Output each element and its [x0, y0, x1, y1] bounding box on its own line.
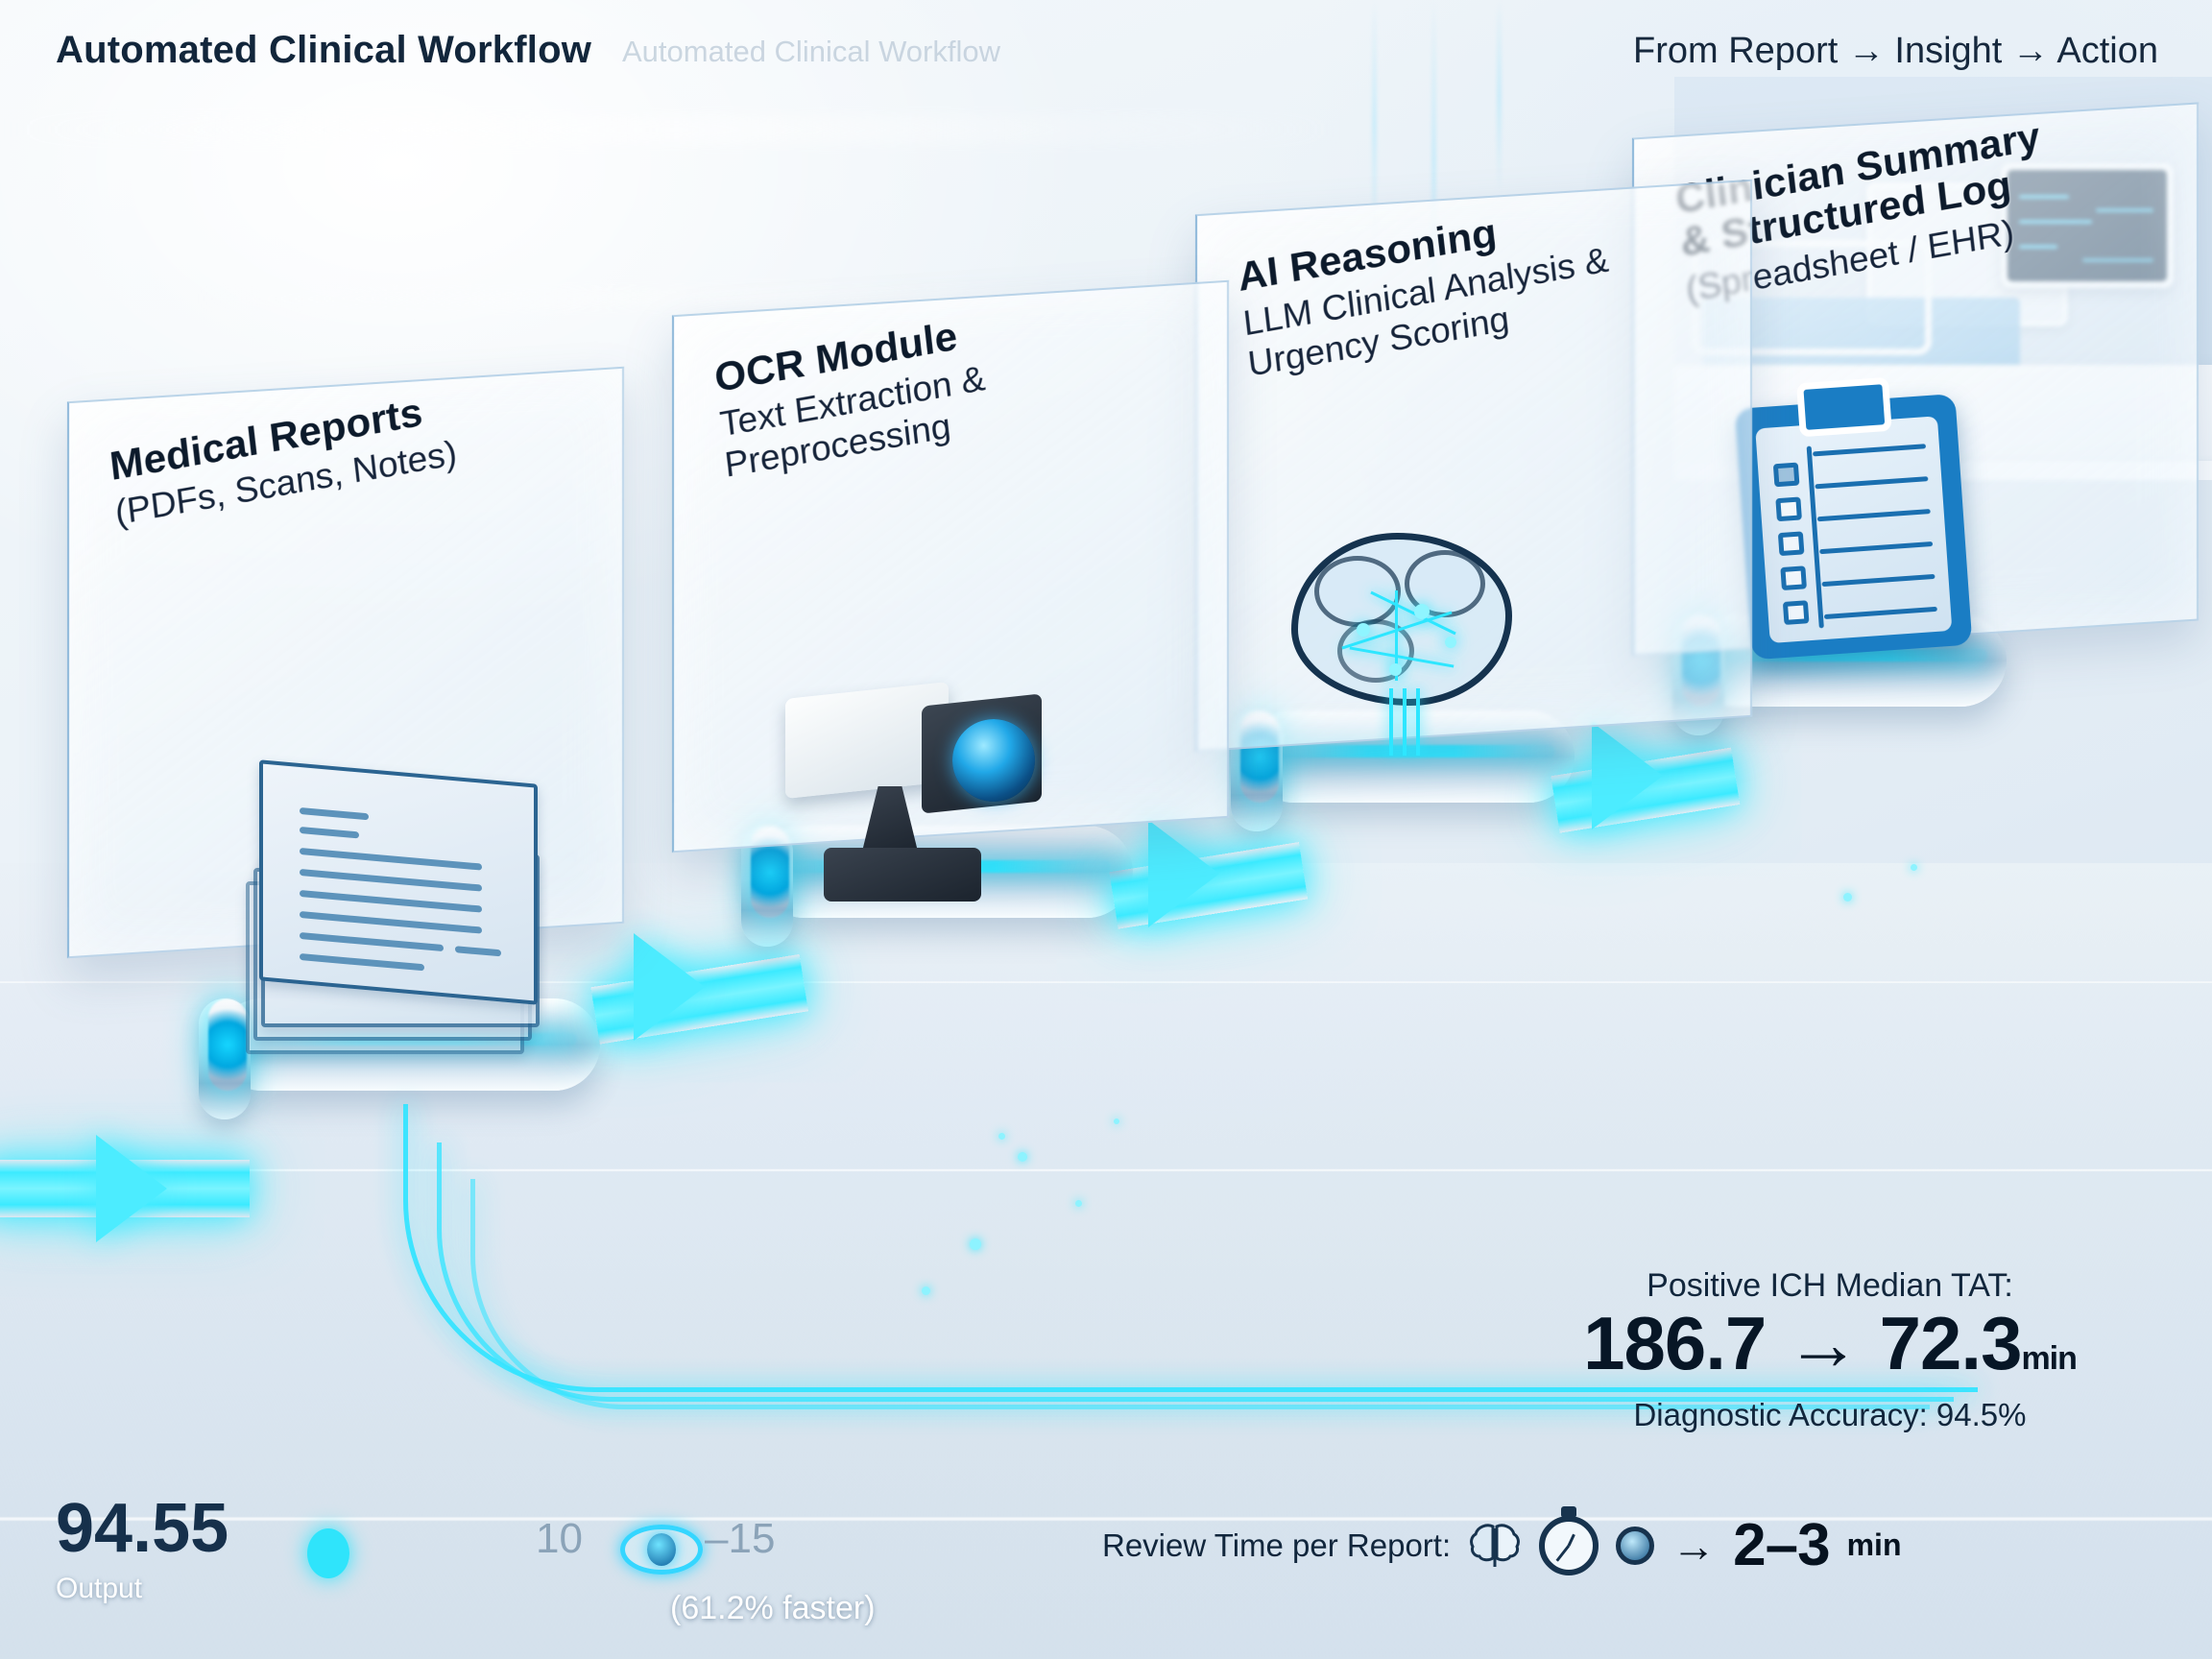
page-title: Automated Clinical Workflow	[56, 29, 591, 72]
output-overlay: 94.55 Output 10 –15 (61.2% faster)	[56, 1494, 228, 1605]
tat-after-value: 72.3	[1880, 1301, 2022, 1385]
faster-note: (61.2% faster)	[670, 1590, 876, 1627]
brain-network-icon	[1282, 523, 1541, 754]
scanner-camera-icon	[768, 677, 1085, 926]
tat-arrow-icon: →	[1786, 1301, 1860, 1385]
tat-label: Positive ICH Median TAT:	[1494, 1267, 2166, 1305]
tat-before-value: 186.7	[1583, 1301, 1766, 1385]
flow-arrow-3-4	[1592, 722, 1663, 829]
marker-left-value: 10	[536, 1515, 583, 1563]
review-time-unit: min	[1847, 1527, 1902, 1563]
eye-icon	[620, 1525, 703, 1575]
ghost-title-watermark: Automated Clinical Workflow	[622, 35, 1000, 69]
flow-arrow-inlet	[96, 1135, 167, 1242]
panel-text-block: AI Reasoning LLM Clinical Analysis & Urg…	[1236, 167, 1756, 385]
tat-unit: min	[2021, 1340, 2076, 1377]
output-value: 94.55	[56, 1494, 228, 1563]
clipboard-checklist-icon	[1733, 372, 1992, 666]
output-marker-dot	[307, 1528, 349, 1578]
scene-stage: Clinician Summary & Structured Log (Spre…	[0, 0, 2212, 1659]
brain-icon	[1468, 1523, 1522, 1569]
document-stack-icon	[240, 768, 576, 1104]
diagnostic-accuracy-label: Diagnostic Accuracy: 94.5%	[1494, 1397, 2166, 1433]
review-time-row: Review Time per Report: → 2–3 min	[1102, 1511, 1901, 1579]
tat-values: 186.7 → 72.3min	[1494, 1305, 2166, 1383]
flow-arrow-1-2	[634, 933, 705, 1041]
review-time-value: 2–3	[1733, 1511, 1829, 1579]
panel-text-block: Medical Reports (PDFs, Scans, Notes)	[108, 356, 623, 534]
stopwatch-icon	[1539, 1516, 1599, 1575]
marker-right-value: –15	[705, 1515, 775, 1563]
metrics-panel: Positive ICH Median TAT: 186.7 → 72.3min…	[1494, 1267, 2166, 1433]
light-streak-vertical	[1498, 0, 1501, 192]
review-arrow-icon: →	[1671, 1520, 1716, 1572]
gear-icon	[1616, 1527, 1654, 1565]
output-label: Output	[56, 1573, 228, 1605]
flow-arrow-2-3	[1148, 820, 1219, 927]
review-time-label: Review Time per Report:	[1102, 1527, 1451, 1564]
tagline: From Report → Insight → Action	[1633, 31, 2158, 72]
light-streak	[0, 115, 1344, 144]
